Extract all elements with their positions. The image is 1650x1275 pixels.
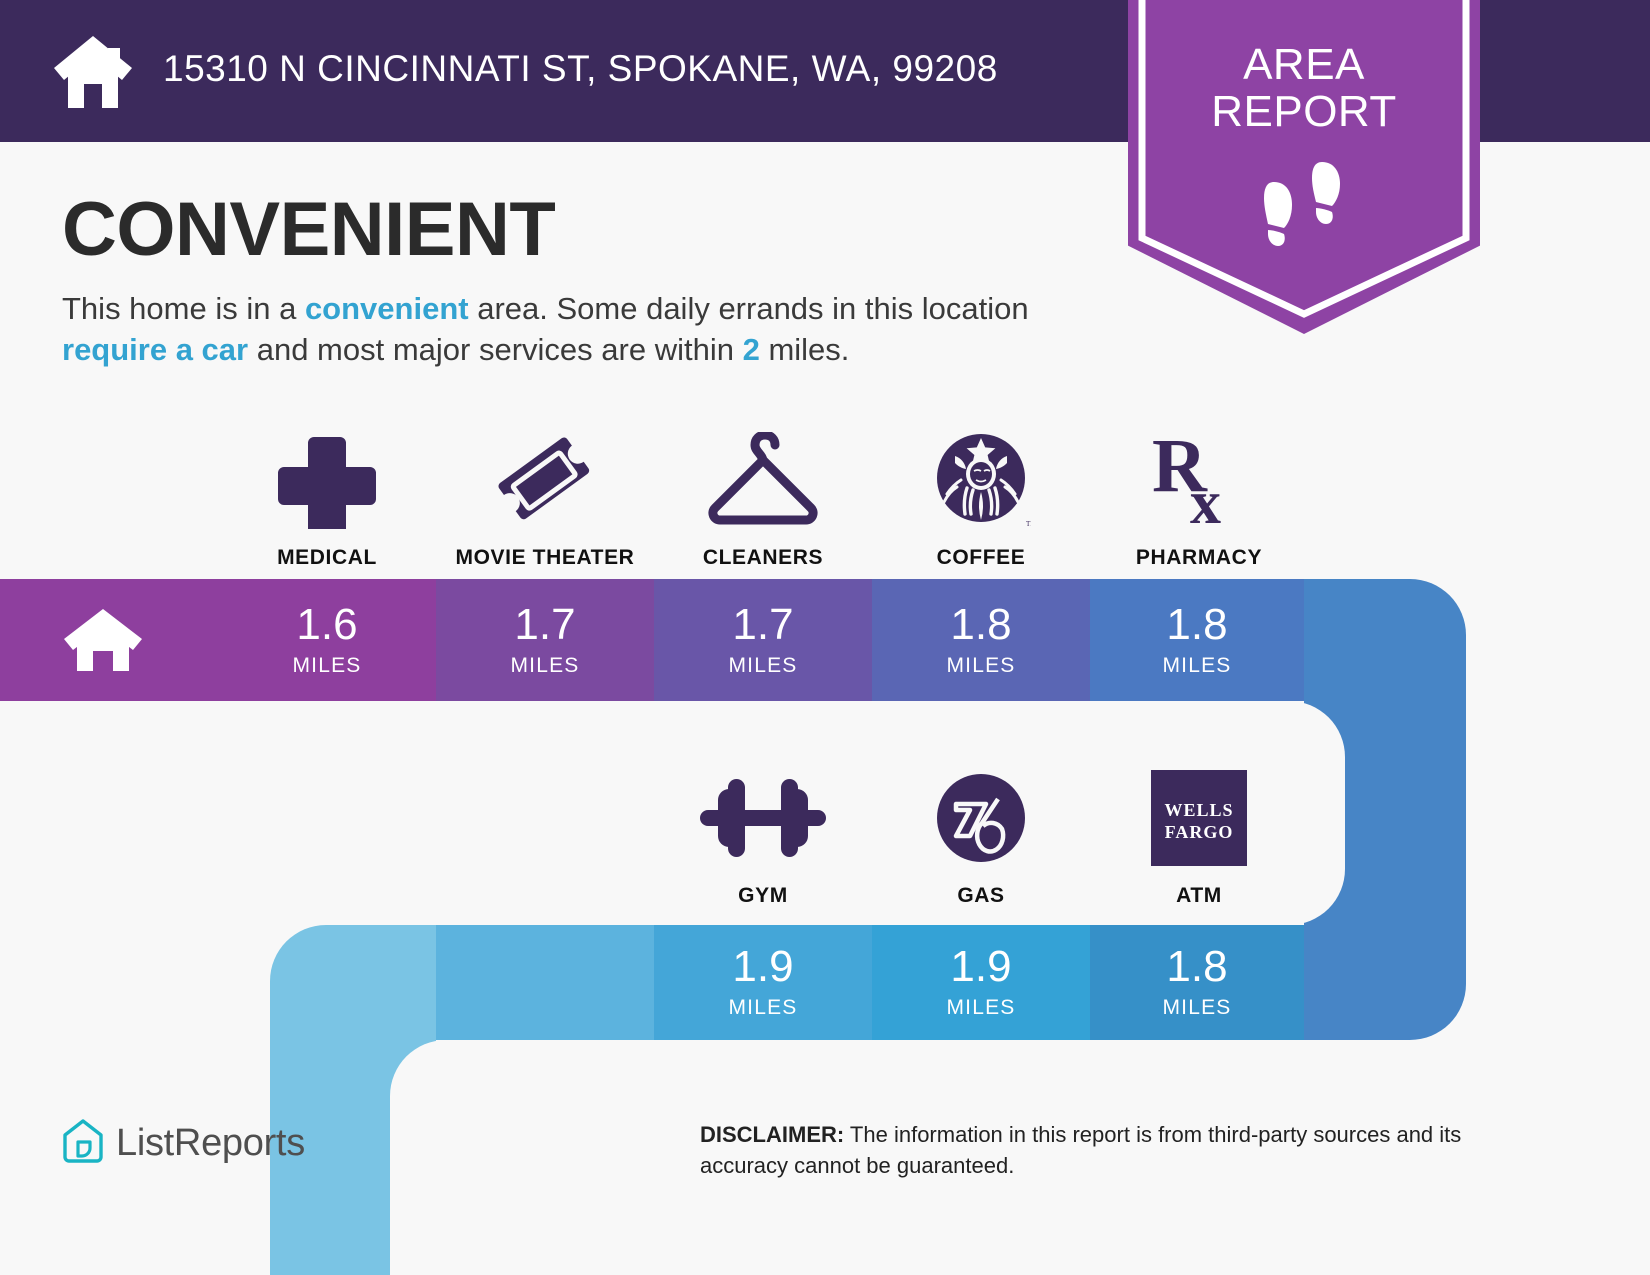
distance-unit: MILES	[1162, 654, 1231, 678]
service-label: MEDICAL	[277, 546, 377, 570]
service-label: GAS	[957, 884, 1004, 908]
distance-cell-movie-theater: 1.7 MILES	[436, 579, 654, 701]
distance-value: 1.9	[732, 945, 793, 989]
distance-value: 1.9	[950, 945, 1011, 989]
service-movie-theater: MOVIE THEATER	[436, 424, 654, 570]
medical-cross-icon	[278, 424, 376, 536]
service-label: CLEANERS	[703, 546, 823, 570]
service-gas: GAS	[872, 762, 1090, 908]
service-label: ATM	[1176, 884, 1222, 908]
dumbbell-icon	[696, 762, 830, 874]
area-report-page: 15310 N CINCINNATI ST, SPOKANE, WA, 9920…	[0, 0, 1650, 1275]
distance-value: 1.8	[1166, 945, 1227, 989]
listreports-house-icon	[62, 1118, 104, 1169]
rx-icon: R x	[1148, 424, 1250, 536]
distance-unit: MILES	[728, 654, 797, 678]
starbucks-icon: TM	[931, 424, 1031, 536]
service-atm: WELLS FARGO ATM	[1090, 762, 1308, 908]
distance-value: 1.7	[732, 603, 793, 647]
distance-cell-gym: 1.9 MILES	[654, 925, 872, 1040]
clothes-hanger-icon	[705, 424, 821, 536]
distance-unit: MILES	[510, 654, 579, 678]
track-left-mask	[390, 1040, 670, 1275]
distance-value: 1.6	[296, 603, 357, 647]
distance-cell-pharmacy: 1.8 MILES	[1090, 579, 1304, 701]
distance-cell-medical: 1.6 MILES	[218, 579, 436, 701]
svg-text:WELLS: WELLS	[1164, 800, 1233, 820]
service-cleaners: CLEANERS	[654, 424, 872, 570]
distance-value: 1.8	[1166, 603, 1227, 647]
service-label: PHARMACY	[1136, 546, 1262, 570]
service-medical: MEDICAL	[218, 424, 436, 570]
brand-name: ListReports	[116, 1122, 305, 1165]
wells-fargo-icon: WELLS FARGO	[1151, 762, 1247, 874]
distance-value: 1.8	[950, 603, 1011, 647]
listreports-brand[interactable]: ListReports	[62, 1118, 305, 1169]
service-label: GYM	[738, 884, 788, 908]
distance-cell-gas: 1.9 MILES	[872, 925, 1090, 1040]
svg-text:TM: TM	[1026, 520, 1031, 528]
service-gym: GYM	[654, 762, 872, 908]
track-row2-filler	[436, 925, 654, 1040]
home-marker-cell	[0, 579, 218, 701]
service-label: COFFEE	[937, 546, 1026, 570]
distance-track: 1.6 MILES 1.7 MILES 1.7 MILES 1.8 MILES …	[0, 0, 1650, 1275]
disclaimer: DISCLAIMER: The information in this repo…	[700, 1120, 1510, 1182]
svg-text:x: x	[1190, 469, 1221, 531]
distance-cell-cleaners: 1.7 MILES	[654, 579, 872, 701]
movie-ticket-icon	[493, 424, 597, 536]
service-coffee: TM COFFEE	[872, 424, 1090, 570]
seventysix-icon	[934, 762, 1028, 874]
distance-cell-coffee: 1.8 MILES	[872, 579, 1090, 701]
distance-unit: MILES	[946, 654, 1015, 678]
distance-cell-atm: 1.8 MILES	[1090, 925, 1304, 1040]
disclaimer-label: DISCLAIMER:	[700, 1122, 844, 1147]
distance-value: 1.7	[514, 603, 575, 647]
svg-text:FARGO: FARGO	[1165, 822, 1234, 842]
service-pharmacy: R x PHARMACY	[1090, 424, 1308, 570]
service-label: MOVIE THEATER	[456, 546, 635, 570]
distance-unit: MILES	[728, 996, 797, 1020]
distance-unit: MILES	[946, 996, 1015, 1020]
distance-unit: MILES	[1162, 996, 1231, 1020]
distance-unit: MILES	[292, 654, 361, 678]
